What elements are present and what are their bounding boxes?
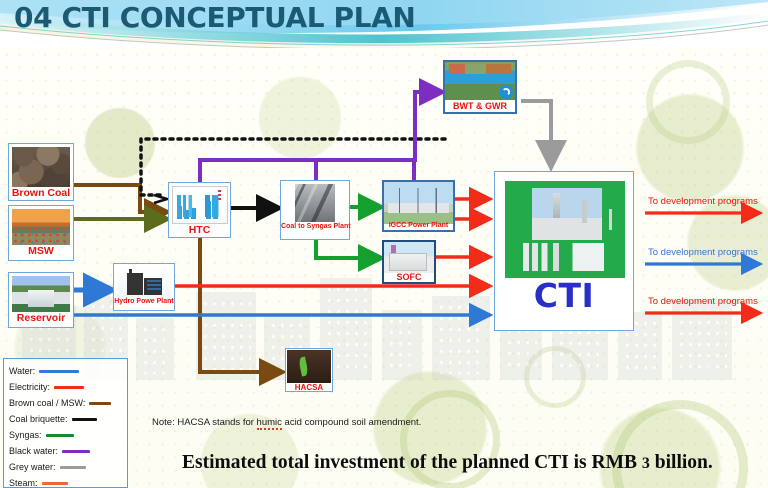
hydro-plant-photo-icon (117, 267, 171, 297)
legend-swatch-steam (42, 482, 68, 485)
note-flagged-word: humic (257, 417, 282, 430)
node-label: Coal to Syngas Plant (281, 223, 349, 230)
node-hydro-power-plant[interactable]: Hydro Powe Plant (113, 263, 175, 311)
legend-swatch-syngas (46, 434, 74, 437)
legend-label: Coal briquette: (9, 414, 68, 424)
node-cti[interactable]: CTI (494, 171, 634, 331)
node-reservoir[interactable]: Reservoir (8, 272, 74, 328)
sofc-plant-photo-icon (384, 242, 434, 274)
node-label: HTC (169, 225, 230, 236)
output-label-3: To development programs (648, 296, 758, 307)
legend-item: Coal briquette: (9, 411, 127, 427)
syngas-plant-photo-icon (295, 184, 335, 222)
page-title: 04 CTI CONCEPTUAL PLAN (14, 1, 415, 34)
node-label: Reservoir (9, 313, 73, 324)
title-banner: 04 CTI CONCEPTUAL PLAN (0, 0, 768, 48)
investment-after: billion. (650, 452, 713, 473)
legend-item: Syngas: (9, 427, 127, 443)
node-bwt-gwr[interactable]: BWT & GWR (443, 60, 517, 114)
output-label-1: To development programs (648, 196, 758, 207)
seedling-soil-photo-icon (287, 350, 331, 383)
node-igcc-power-plant[interactable]: IGCC Power Plant (382, 180, 455, 232)
legend-item: Grey water: (9, 459, 127, 475)
node-coal-to-syngas-plant[interactable]: Coal to Syngas Plant (280, 180, 350, 240)
cti-plant-photo-icon (532, 188, 602, 240)
node-htc[interactable]: HTC (168, 182, 231, 238)
dam-photo-icon (12, 276, 70, 312)
investment-statement: Estimated total investment of the planne… (182, 452, 713, 474)
legend-label: Steam: (9, 478, 38, 488)
background-ring (646, 60, 730, 144)
recycle-badge-icon (499, 85, 513, 99)
node-label: SOFC (384, 273, 434, 282)
legend-swatch-browncoal (89, 402, 111, 405)
node-label: Brown Coal (9, 188, 73, 199)
note-suffix: acid compound soil amendment. (282, 417, 421, 428)
investment-amount: 3 (642, 455, 650, 472)
node-label: Hydro Powe Plant (114, 298, 174, 305)
legend-label: Water: (9, 366, 35, 376)
coal-photo-icon (12, 147, 70, 187)
legend-label: Grey water: (9, 462, 56, 472)
legend-panel: Water: Electricity: Brown coal / MSW: Co… (3, 358, 128, 488)
legend-label: Syngas: (9, 430, 42, 440)
legend-label: Electricity: (9, 382, 50, 392)
legend-swatch-blackwater (62, 450, 90, 453)
cti-facility-graphic (523, 243, 611, 271)
slide-canvas: 04 CTI CONCEPTUAL PLAN (0, 0, 768, 488)
igcc-plant-photo-icon (384, 182, 453, 224)
node-label: MSW (9, 246, 73, 257)
legend-swatch-briquette (72, 418, 97, 421)
legend-item: Water: (9, 363, 127, 379)
node-msw[interactable]: MSW (8, 205, 74, 261)
legend-item: Electricity: (9, 379, 127, 395)
node-label: BWT & GWR (445, 102, 515, 111)
note-prefix: Note: HACSA stands for (152, 417, 257, 428)
node-label: IGCC Power Plant (384, 222, 453, 229)
node-brown-coal[interactable]: Brown Coal (8, 143, 74, 201)
note-text: Note: HACSA stands for humic acid compou… (152, 417, 421, 428)
landfill-photo-icon (12, 209, 70, 245)
legend-item: Black water: (9, 443, 127, 459)
legend-label: Brown coal / MSW: (9, 398, 85, 408)
node-hacsa[interactable]: HACSA (285, 348, 333, 392)
legend-item: Brown coal / MSW: (9, 395, 127, 411)
cti-green-panel (505, 181, 625, 278)
investment-before: Estimated total investment of the planne… (182, 452, 642, 473)
cti-label: CTI (495, 276, 633, 315)
output-label-2: To development programs (648, 247, 758, 258)
legend-label: Black water: (9, 446, 58, 456)
legend-swatch-water (39, 370, 79, 373)
legend-swatch-greywater (60, 466, 86, 469)
node-sofc[interactable]: SOFC (382, 240, 436, 284)
legend-item: Steam: (9, 475, 127, 488)
htc-chart-photo-icon (172, 186, 228, 224)
node-label: HACSA (286, 384, 332, 392)
legend-swatch-electricity (54, 386, 84, 389)
